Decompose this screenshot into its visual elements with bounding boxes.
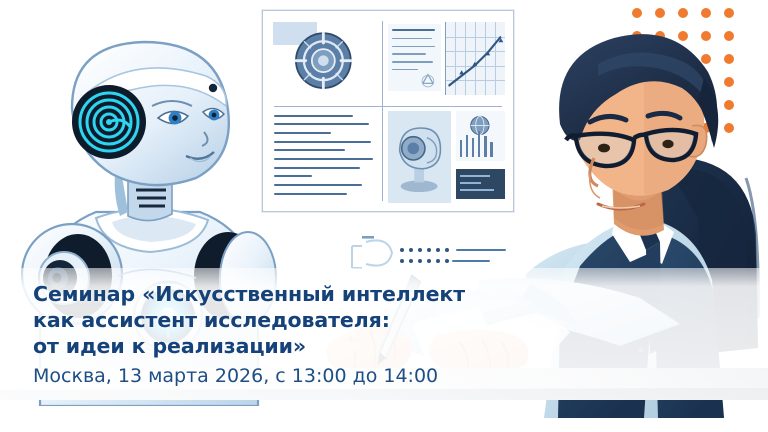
poster-title-line-1: Семинар «Искусственный интеллект bbox=[33, 281, 503, 307]
poster-title-line-2: как ассистент исследователя: bbox=[33, 307, 503, 333]
text-line bbox=[392, 61, 433, 63]
board-vertical-divider bbox=[382, 21, 383, 201]
poster-title-line-3: от идеи к реализации» bbox=[33, 333, 503, 359]
grid-dot bbox=[632, 8, 642, 18]
text-line bbox=[392, 46, 436, 48]
recycle-icon bbox=[417, 69, 439, 93]
poster-canvas: Семинар «Искусственный интеллект как асс… bbox=[0, 0, 768, 432]
text-line bbox=[392, 29, 436, 31]
text-block: Семинар «Искусственный интеллект как асс… bbox=[33, 281, 503, 388]
grid-dot bbox=[655, 8, 665, 18]
text-line bbox=[392, 53, 426, 55]
poster-subtitle: Москва, 13 марта 2026, с 13:00 до 14:00 bbox=[33, 364, 503, 388]
grid-dot bbox=[724, 8, 734, 18]
grid-dot bbox=[678, 8, 688, 18]
grid-dot bbox=[701, 8, 711, 18]
robot-bust-icon bbox=[390, 113, 448, 201]
